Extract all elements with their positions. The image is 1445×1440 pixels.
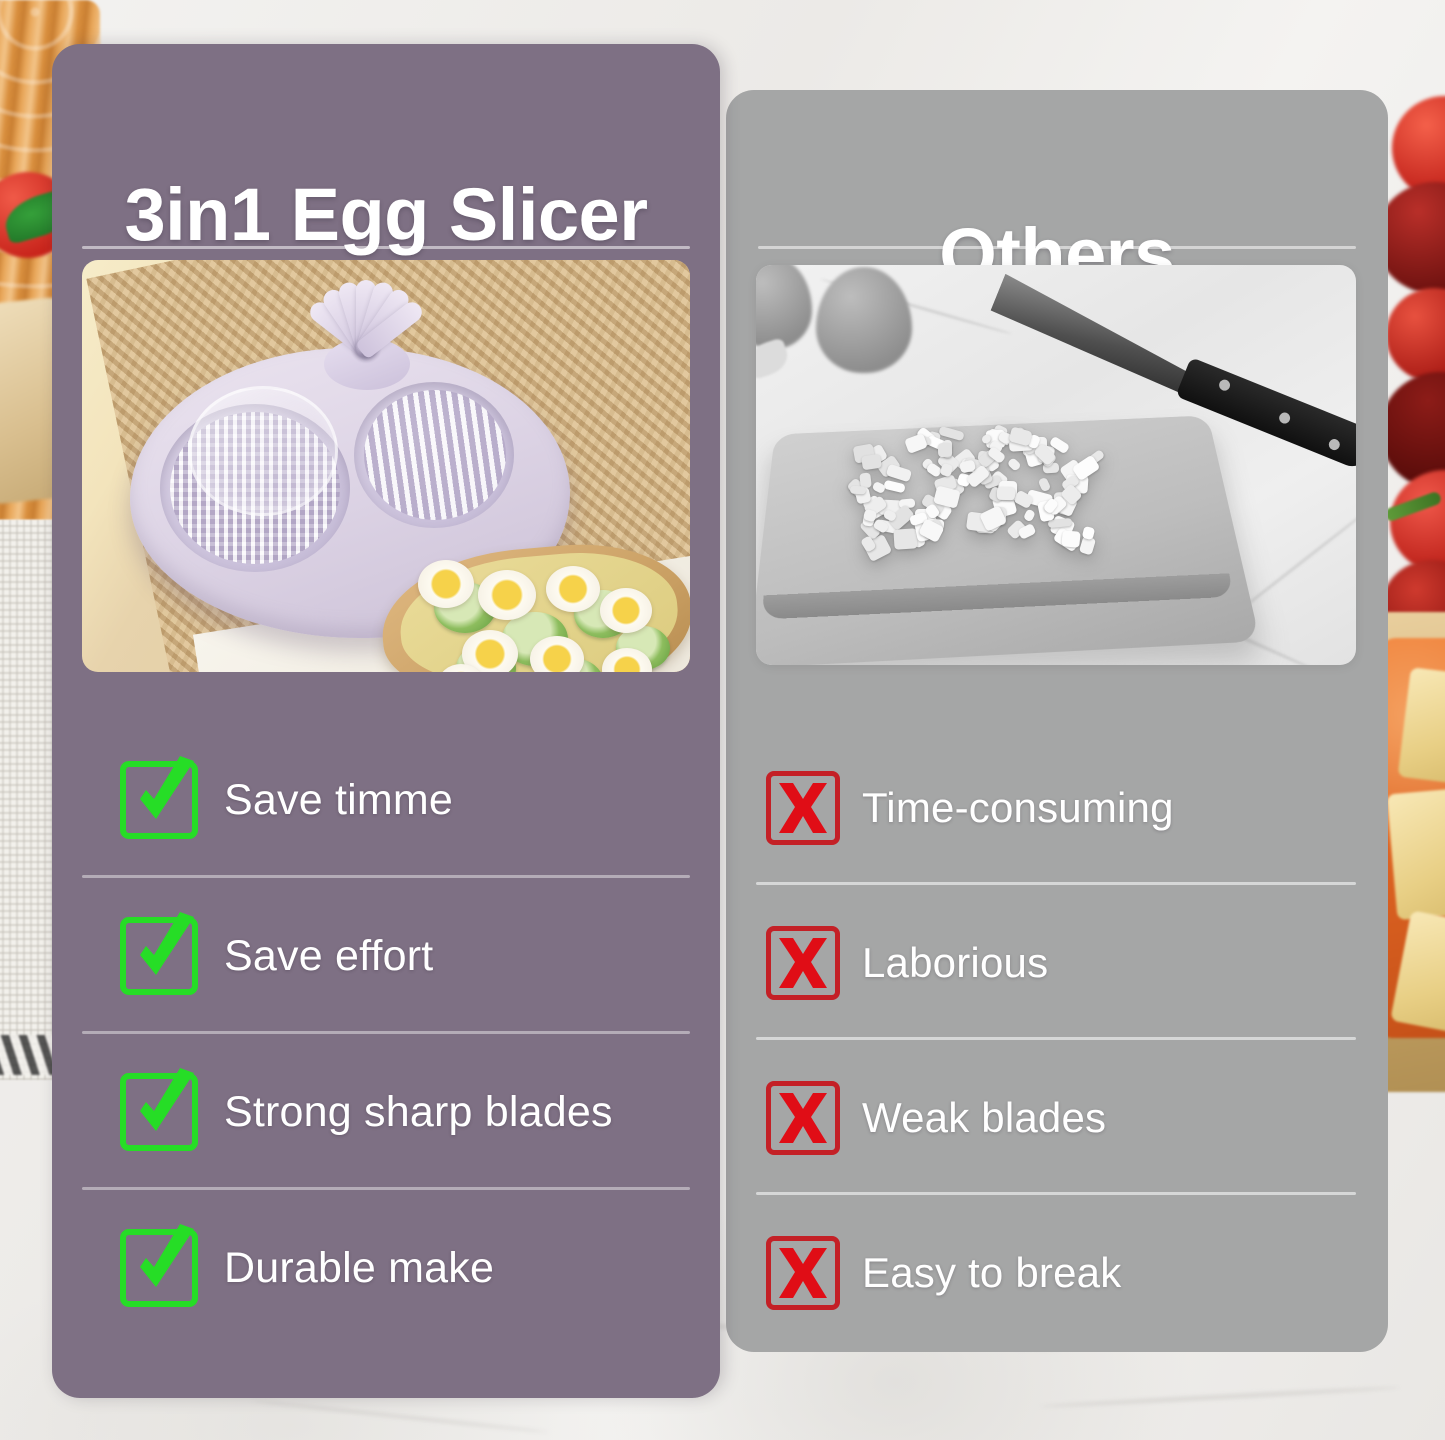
feature-label: Save timme [224,776,453,825]
photo-egg-chunk [938,426,964,441]
photo-slicer-clear-lid [188,386,338,516]
feature-row: Time-consuming [726,730,1388,885]
feature-label: Laborious [862,939,1048,987]
feature-label: Weak blades [862,1094,1106,1142]
product-feature-list: Save timmeSave effortStrong sharp blades… [52,722,720,1346]
photo-egg-chunk [1062,530,1081,547]
photo-egg-slice [546,566,600,612]
photo-egg-chunk [861,454,882,470]
background-cheese [1387,786,1445,920]
feature-row: Strong sharp blades [52,1034,720,1190]
feature-row: Durable make [52,1190,720,1346]
product-panel: 3in1 Egg Slicer Save timmeSave [52,44,720,1398]
feature-row: Weak blades [726,1040,1388,1195]
check-icon [120,1073,198,1151]
photo-egg-chunk [883,480,905,494]
feature-label: Time-consuming [862,784,1174,832]
photo-egg-chunk [1023,508,1036,522]
feature-label: Strong sharp blades [224,1088,613,1137]
product-title-divider [82,246,690,249]
feature-row: Save effort [52,878,720,1034]
check-icon [120,761,198,839]
feature-row: Save timme [52,722,720,878]
x-icon [766,926,840,1000]
photo-egg-chunk [850,486,866,495]
feature-label: Save effort [224,932,433,981]
check-icon [120,1229,198,1307]
photo-egg-chunk [1038,477,1052,493]
feature-label: Durable make [224,1244,494,1293]
others-photo [756,265,1356,665]
others-panel: Others Time-consuming [726,90,1388,1352]
feature-row: Laborious [726,885,1388,1040]
photo-slicer-wedger [300,280,430,388]
photo-egg-slice [600,588,652,633]
photo-chopped-egg-pile [848,415,1098,555]
photo-egg-chunk [997,487,1015,500]
photo-egg-chunk [885,463,911,482]
x-icon [766,1081,840,1155]
photo-egg-slice [478,570,536,620]
product-photo [82,260,690,672]
photo-slicer-blades [364,390,506,520]
others-title-divider [758,246,1356,249]
photo-egg-chunk [1006,457,1021,472]
product-panel-title: 3in1 Egg Slicer [52,172,720,257]
others-feature-list: Time-consumingLaboriousWeak bladesEasy t… [726,730,1388,1350]
photo-egg-chunk [893,529,917,551]
x-icon [766,1236,840,1310]
check-icon [120,917,198,995]
photo-egg-slice [418,560,474,608]
feature-label: Easy to break [862,1249,1121,1297]
x-icon [766,771,840,845]
feature-row: Easy to break [726,1195,1388,1350]
photo-egg-chunk [938,442,952,456]
comparison-infographic: Others Time-consuming [0,0,1445,1440]
